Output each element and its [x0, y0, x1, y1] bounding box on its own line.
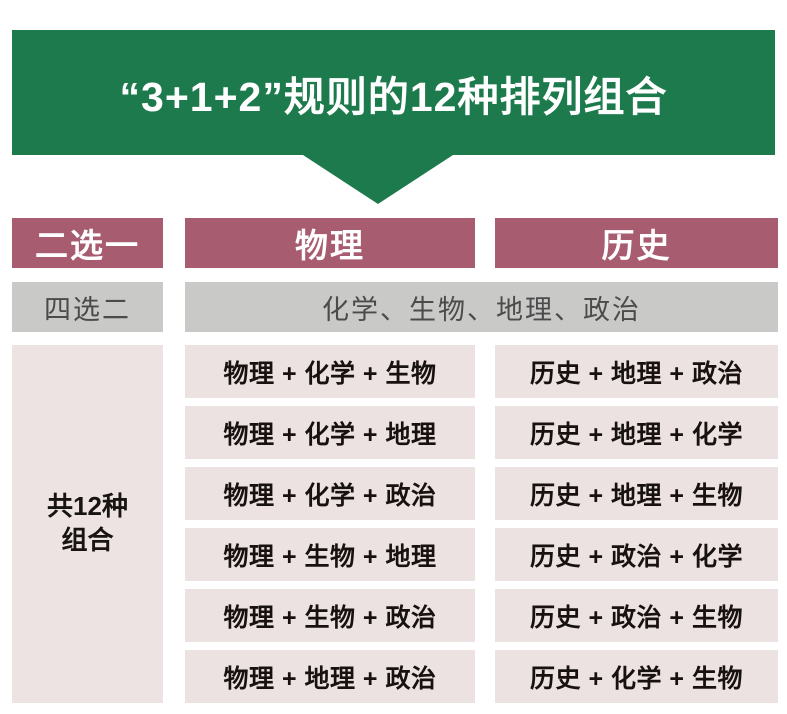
list-item: 历史 + 地理 + 政治	[495, 345, 778, 398]
summary-cell-total-combinations: 共12种 组合	[12, 345, 163, 703]
list-item: 历史 + 化学 + 生物	[495, 650, 778, 703]
list-item: 物理 + 化学 + 地理	[185, 406, 475, 459]
list-item: 物理 + 生物 + 地理	[185, 528, 475, 581]
title-banner: “3+1+2”规则的12种排列组合	[12, 30, 775, 155]
column-gap	[163, 345, 185, 703]
list-item: 物理 + 化学 + 政治	[185, 467, 475, 520]
list-item: 历史 + 政治 + 生物	[495, 589, 778, 642]
header-cell-physics: 物理	[185, 218, 475, 268]
history-combination-list: 历史 + 地理 + 政治 历史 + 地理 + 化学 历史 + 地理 + 生物 历…	[495, 345, 778, 703]
summary-line-1: 共12种	[47, 490, 128, 524]
subheader-cell-elective-subjects: 化学、生物、地理、政治	[185, 282, 778, 332]
combination-table: 二选一 物理 历史 四选二 化学、生物、地理、政治 共12种 组合 物理 + 化…	[12, 218, 778, 703]
list-item: 物理 + 地理 + 政治	[185, 650, 475, 703]
header-cell-choose-one-of-two: 二选一	[12, 218, 163, 268]
table-header-row: 二选一 物理 历史	[12, 218, 778, 268]
page-title: “3+1+2”规则的12种排列组合	[12, 63, 775, 123]
list-item: 物理 + 生物 + 政治	[185, 589, 475, 642]
list-item: 历史 + 政治 + 化学	[495, 528, 778, 581]
column-gap	[163, 218, 185, 268]
summary-line-2: 组合	[61, 524, 113, 558]
column-gap	[475, 218, 495, 268]
banner-arrow-down-icon	[303, 155, 453, 204]
subheader-cell-choose-two-of-four: 四选二	[12, 282, 163, 332]
physics-combination-list: 物理 + 化学 + 生物 物理 + 化学 + 地理 物理 + 化学 + 政治 物…	[185, 345, 475, 703]
header-cell-history: 历史	[495, 218, 778, 268]
list-item: 历史 + 地理 + 生物	[495, 467, 778, 520]
column-gap	[475, 345, 495, 703]
column-gap	[163, 282, 185, 332]
table-subheader-row: 四选二 化学、生物、地理、政治	[12, 282, 778, 332]
table-body: 共12种 组合 物理 + 化学 + 生物 物理 + 化学 + 地理 物理 + 化…	[12, 345, 778, 703]
list-item: 物理 + 化学 + 生物	[185, 345, 475, 398]
list-item: 历史 + 地理 + 化学	[495, 406, 778, 459]
